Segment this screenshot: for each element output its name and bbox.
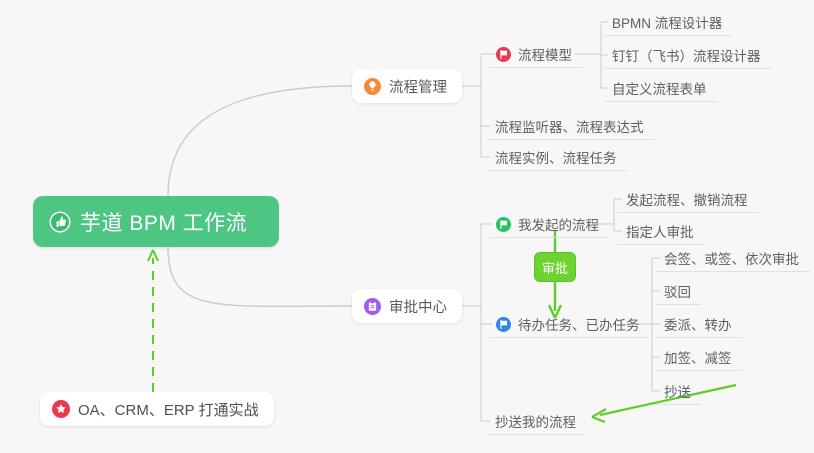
- flag-icon: [496, 317, 511, 332]
- leaf-process-listener-expression-label: 流程监听器、流程表达式: [495, 116, 644, 136]
- leaf-countersign-orsign-sequential[interactable]: 会签、或签、依次审批: [656, 245, 809, 272]
- leaf-process-model-label: 流程模型: [518, 44, 572, 64]
- note-integration-practice-label: OA、CRM、ERP 打通实战: [78, 399, 259, 420]
- leaf-add-remove-sign[interactable]: 加签、减签: [656, 344, 742, 371]
- leaf-start-cancel-process[interactable]: 发起流程、撤销流程: [618, 186, 758, 213]
- leaf-todo-done-tasks[interactable]: 待办任务、已办任务: [490, 311, 650, 338]
- leaf-bpmn-designer-label: BPMN 流程设计器: [612, 12, 722, 32]
- note-integration-practice[interactable]: OA、CRM、ERP 打通实战: [40, 392, 274, 426]
- branch-process-management-label: 流程管理: [389, 76, 447, 97]
- leaf-delegate-transfer[interactable]: 委派、转办: [656, 311, 742, 338]
- leaf-delegate-transfer-label: 委派、转办: [664, 314, 732, 334]
- leaf-cc-to-me-processes[interactable]: 抄送我的流程: [487, 408, 586, 435]
- leaf-countersign-orsign-sequential-label: 会签、或签、依次审批: [664, 248, 799, 268]
- leaf-my-started-processes-label: 我发起的流程: [518, 214, 599, 234]
- leaf-my-started-processes[interactable]: 我发起的流程: [490, 211, 609, 238]
- leaf-custom-process-form[interactable]: 自定义流程表单: [604, 75, 717, 102]
- branch-approval-center-label: 审批中心: [389, 296, 447, 317]
- leaf-cc-label: 抄送: [664, 381, 691, 401]
- leaf-todo-done-tasks-label: 待办任务、已办任务: [518, 314, 640, 334]
- clipboard-icon: [364, 298, 381, 315]
- leaf-reject[interactable]: 驳回: [656, 278, 701, 305]
- branch-approval-center[interactable]: 审批中心: [352, 289, 462, 323]
- lightbulb-icon: [364, 78, 381, 95]
- leaf-process-listener-expression[interactable]: 流程监听器、流程表达式: [487, 113, 654, 140]
- leaf-bpmn-designer[interactable]: BPMN 流程设计器: [604, 9, 732, 36]
- leaf-dingtalk-feishu-designer-label: 钉钉（飞书）流程设计器: [612, 45, 761, 65]
- leaf-process-instance-task-label: 流程实例、流程任务: [495, 147, 617, 167]
- thumbs-up-icon: [49, 211, 71, 233]
- flag-icon: [496, 217, 511, 232]
- root-node-label: 芋道 BPM 工作流: [80, 207, 247, 237]
- leaf-assignee-approval-label: 指定人审批: [626, 221, 694, 241]
- leaf-assignee-approval[interactable]: 指定人审批: [618, 218, 704, 245]
- mindmap-canvas: 芋道 BPM 工作流 流程管理 流程模型 BPMN 流程设计器 钉钉（飞书）流程…: [0, 0, 814, 453]
- flag-icon: [496, 47, 511, 62]
- leaf-cc-to-me-processes-label: 抄送我的流程: [495, 411, 576, 431]
- approval-action-chip[interactable]: 审批: [534, 252, 576, 282]
- star-icon: [52, 400, 70, 418]
- leaf-reject-label: 驳回: [664, 281, 691, 301]
- approval-action-chip-label: 审批: [542, 258, 568, 277]
- branch-process-management[interactable]: 流程管理: [352, 69, 462, 103]
- leaf-process-model[interactable]: 流程模型: [490, 41, 582, 68]
- leaf-custom-process-form-label: 自定义流程表单: [612, 78, 707, 98]
- leaf-dingtalk-feishu-designer[interactable]: 钉钉（飞书）流程设计器: [604, 42, 771, 69]
- leaf-add-remove-sign-label: 加签、减签: [664, 347, 732, 367]
- leaf-start-cancel-process-label: 发起流程、撤销流程: [626, 189, 748, 209]
- leaf-process-instance-task[interactable]: 流程实例、流程任务: [487, 144, 627, 171]
- root-node[interactable]: 芋道 BPM 工作流: [33, 196, 279, 247]
- leaf-cc[interactable]: 抄送: [656, 378, 701, 405]
